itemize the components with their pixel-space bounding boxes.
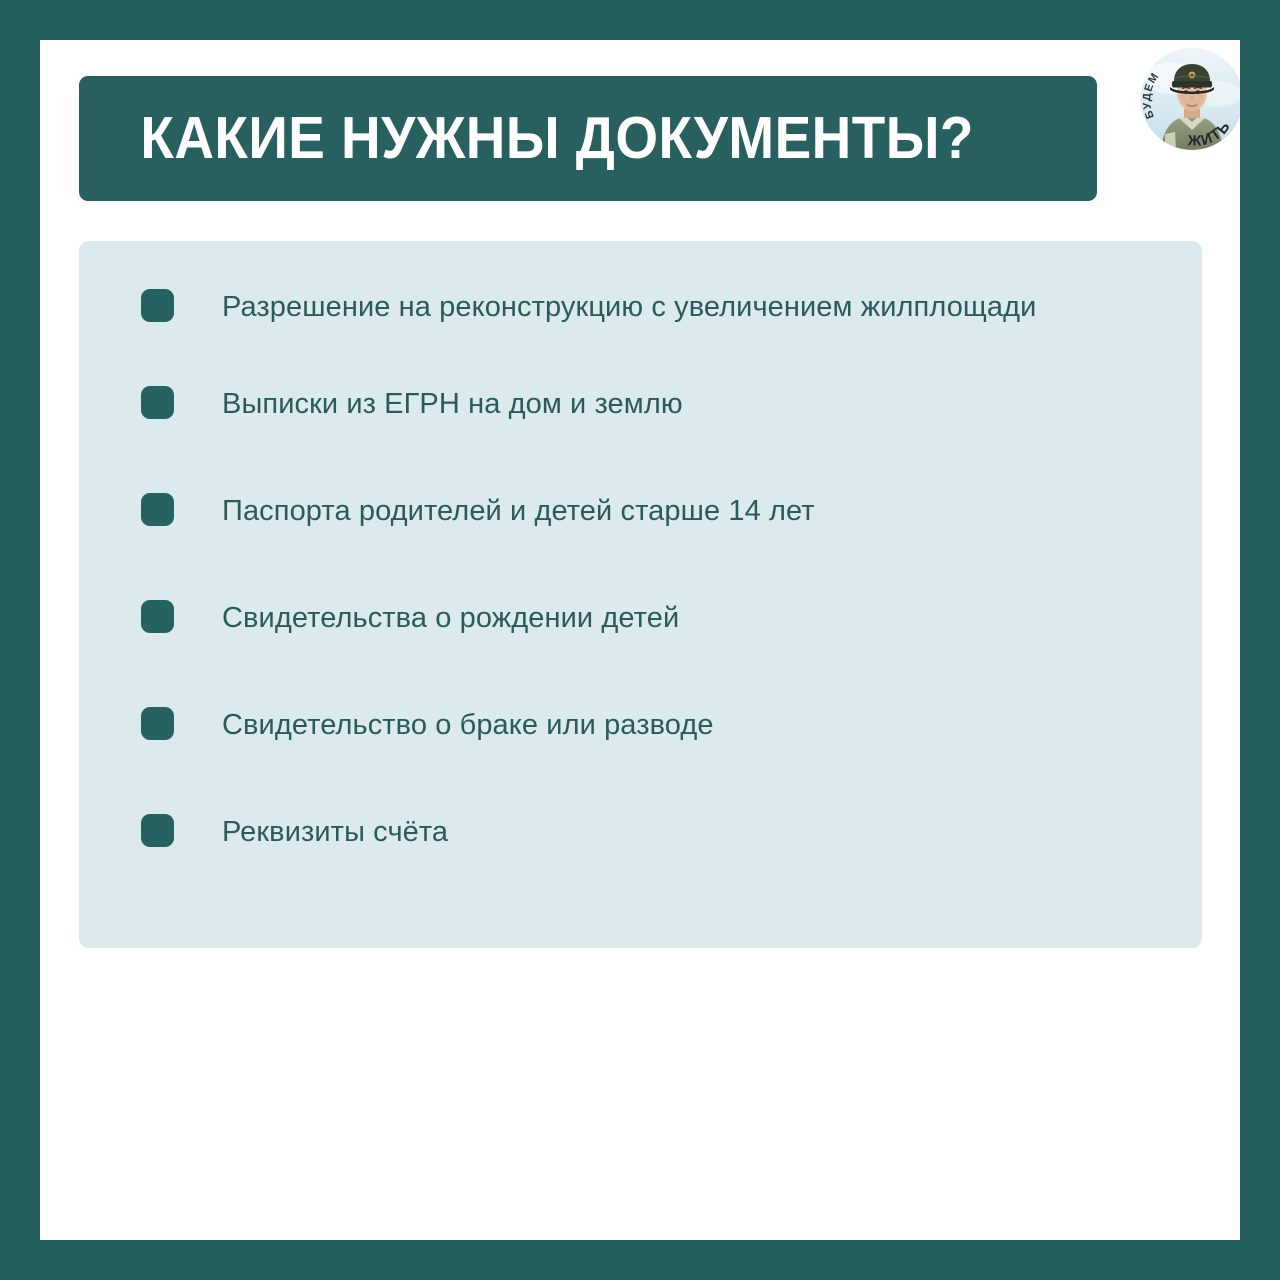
list-item: Свидетельства о рождении детей: [141, 596, 1162, 641]
page-title: КАКИЕ НУЖНЫ ДОКУМЕНТЫ?: [79, 109, 974, 168]
list-item: Свидетельство о браке или разводе: [141, 703, 1162, 748]
list-item-label: Паспорта родителей и детей старше 14 лет: [222, 489, 815, 534]
list-item-label: Свидетельство о браке или разводе: [222, 703, 714, 748]
bullet-icon: [141, 493, 174, 526]
list-item: Выписки из ЕГРН на дом и землю: [141, 382, 1162, 427]
budem-zhit-logo-icon: БУДЕМ ЖИТЬ: [1141, 48, 1240, 150]
list-item: Паспорта родителей и детей старше 14 лет: [141, 489, 1162, 534]
bullet-icon: [141, 600, 174, 633]
bullet-icon: [141, 289, 174, 322]
list-item: Реквизиты счёта: [141, 810, 1162, 855]
list-item-label: Свидетельства о рождении детей: [222, 596, 679, 641]
list-item: Разрешение на реконструкцию с увеличение…: [141, 285, 1162, 330]
list-item-label: Выписки из ЕГРН на дом и землю: [222, 382, 683, 427]
title-banner: КАКИЕ НУЖНЫ ДОКУМЕНТЫ?: [79, 76, 1097, 201]
list-item-label: Реквизиты счёта: [222, 810, 448, 855]
documents-list: Разрешение на реконструкцию с увеличение…: [141, 285, 1162, 855]
slide-page: КАКИЕ НУЖНЫ ДОКУМЕНТЫ?: [40, 40, 1240, 1240]
slide-frame: КАКИЕ НУЖНЫ ДОКУМЕНТЫ?: [0, 0, 1280, 1280]
bullet-icon: [141, 707, 174, 740]
bullet-icon: [141, 386, 174, 419]
list-item-label: Разрешение на реконструкцию с увеличение…: [222, 285, 1036, 330]
bullet-icon: [141, 814, 174, 847]
documents-card: Разрешение на реконструкцию с увеличение…: [79, 241, 1202, 948]
